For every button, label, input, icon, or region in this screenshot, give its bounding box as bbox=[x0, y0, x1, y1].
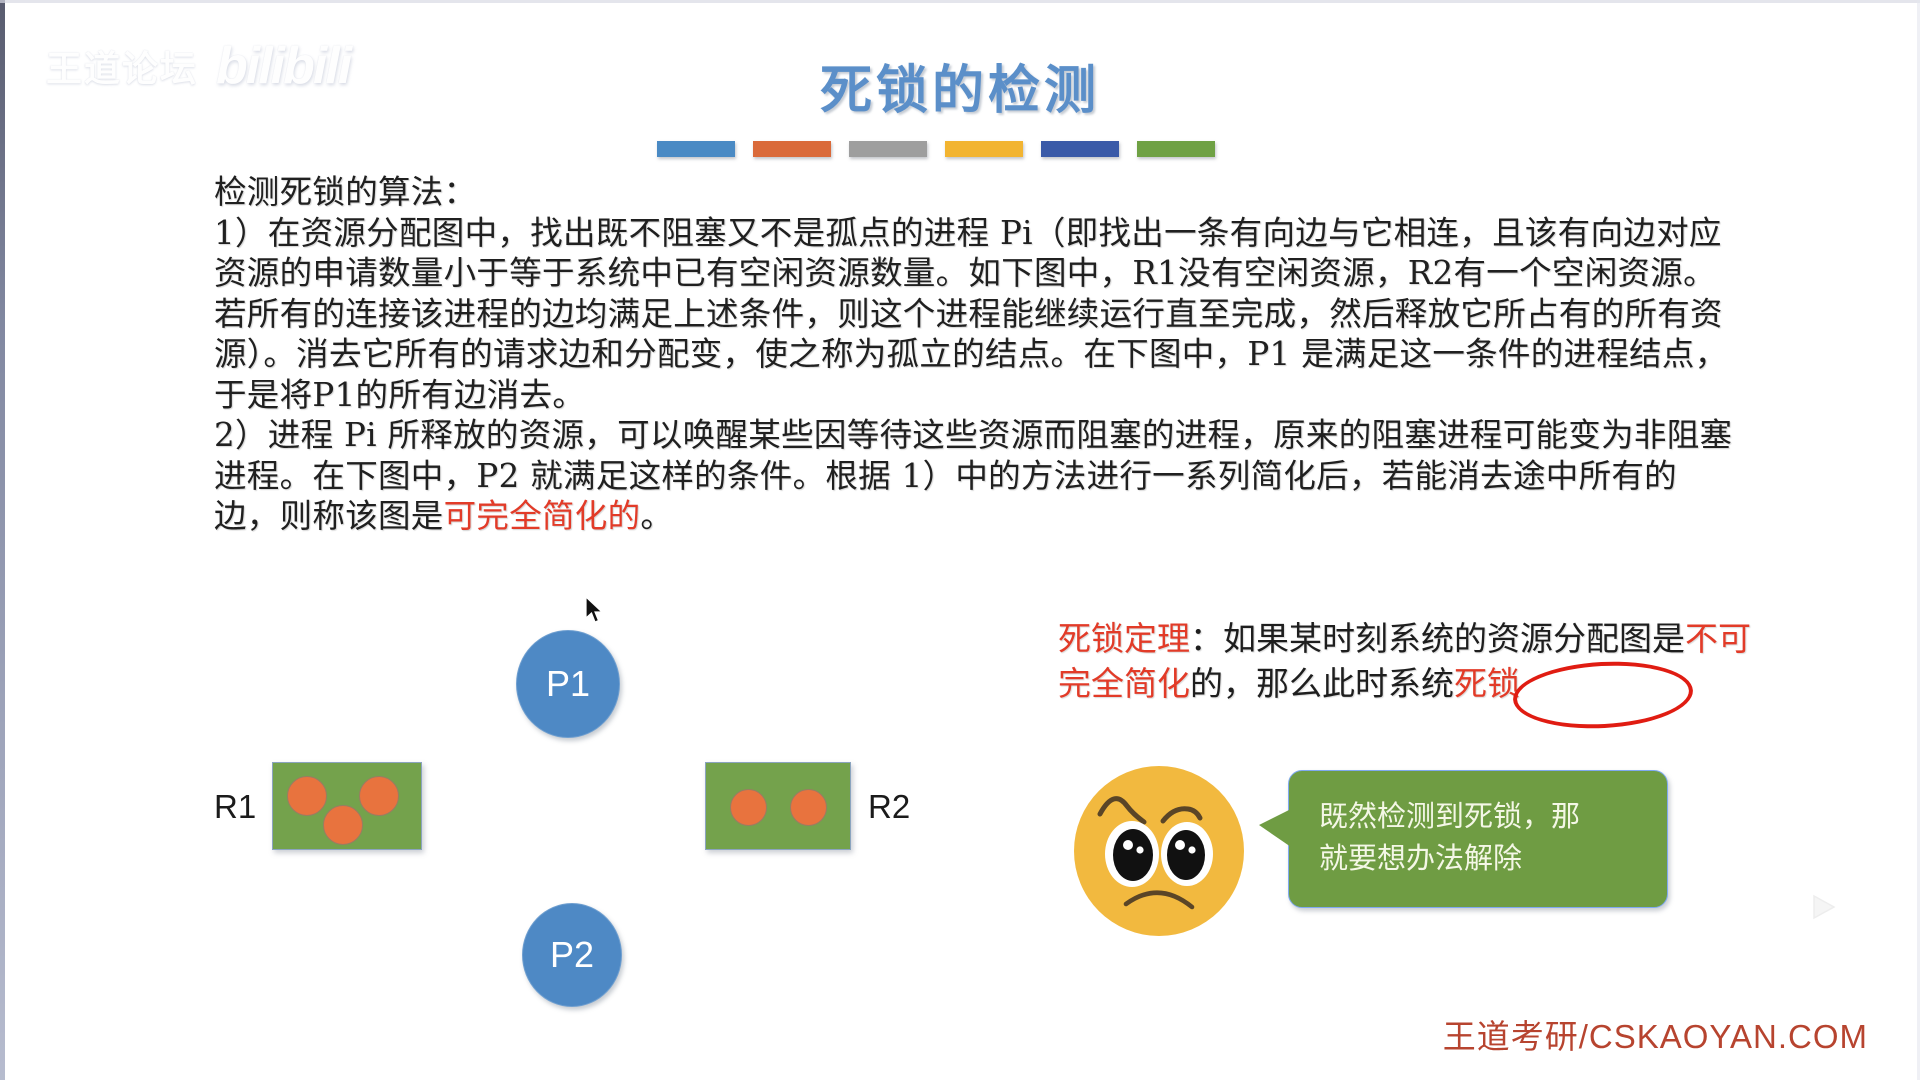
slide-canvas: 王道论坛 bilibili 死锁的检测 检测死锁的算法： 1）在资源分配图中，找… bbox=[0, 0, 1920, 1080]
bilibili-tv-icon bbox=[1776, 862, 1868, 940]
deadlock-theorem-text: 死锁定理：如果某时刻系统的资源分配图是不可完全简化的，那么此时系统死锁 bbox=[1058, 616, 1758, 706]
resource-instance-dot bbox=[287, 776, 327, 816]
resource-node-r2 bbox=[705, 762, 851, 850]
theorem-segment-2: 的，那么此时 bbox=[1190, 664, 1388, 703]
callout-text: 既然检测到死锁，那 就要想办法解除 bbox=[1319, 795, 1655, 879]
theorem-colon: ： bbox=[1190, 619, 1223, 658]
resource-allocation-diagram: P1 R1 R2 P2 bbox=[0, 0, 1100, 1080]
theorem-segment-1: 如果某时刻系统的资源分配图是 bbox=[1223, 619, 1685, 658]
process-node-p2: P2 bbox=[522, 903, 622, 1007]
resource-node-r1 bbox=[272, 762, 422, 850]
callout-speech-bubble: 既然检测到死锁，那 就要想办法解除 bbox=[1288, 770, 1668, 908]
system-deadlock-term: 死锁 bbox=[1454, 664, 1520, 703]
process-node-p2-label: P2 bbox=[550, 934, 594, 976]
resource-instance-dot bbox=[359, 776, 399, 816]
process-node-p1-label: P1 bbox=[546, 663, 590, 705]
theorem-segment-3: 系统 bbox=[1388, 664, 1454, 703]
resource-instance-dot bbox=[730, 789, 767, 826]
bubble-tail bbox=[1259, 809, 1291, 847]
resource-instance-dot bbox=[790, 789, 827, 826]
frowning-face-emoji bbox=[1070, 762, 1248, 940]
process-node-p1: P1 bbox=[516, 630, 620, 738]
resource-node-r2-label: R2 bbox=[868, 788, 910, 826]
resource-instance-dot bbox=[323, 805, 363, 845]
footer-brand: 王道考研/CSKAOYAN.COM bbox=[1443, 1010, 1868, 1058]
resource-node-r1-label: R1 bbox=[214, 788, 256, 826]
mouse-pointer-icon bbox=[585, 596, 607, 626]
theorem-label: 死锁定理 bbox=[1058, 619, 1190, 658]
accent-bar-6 bbox=[1137, 141, 1215, 157]
